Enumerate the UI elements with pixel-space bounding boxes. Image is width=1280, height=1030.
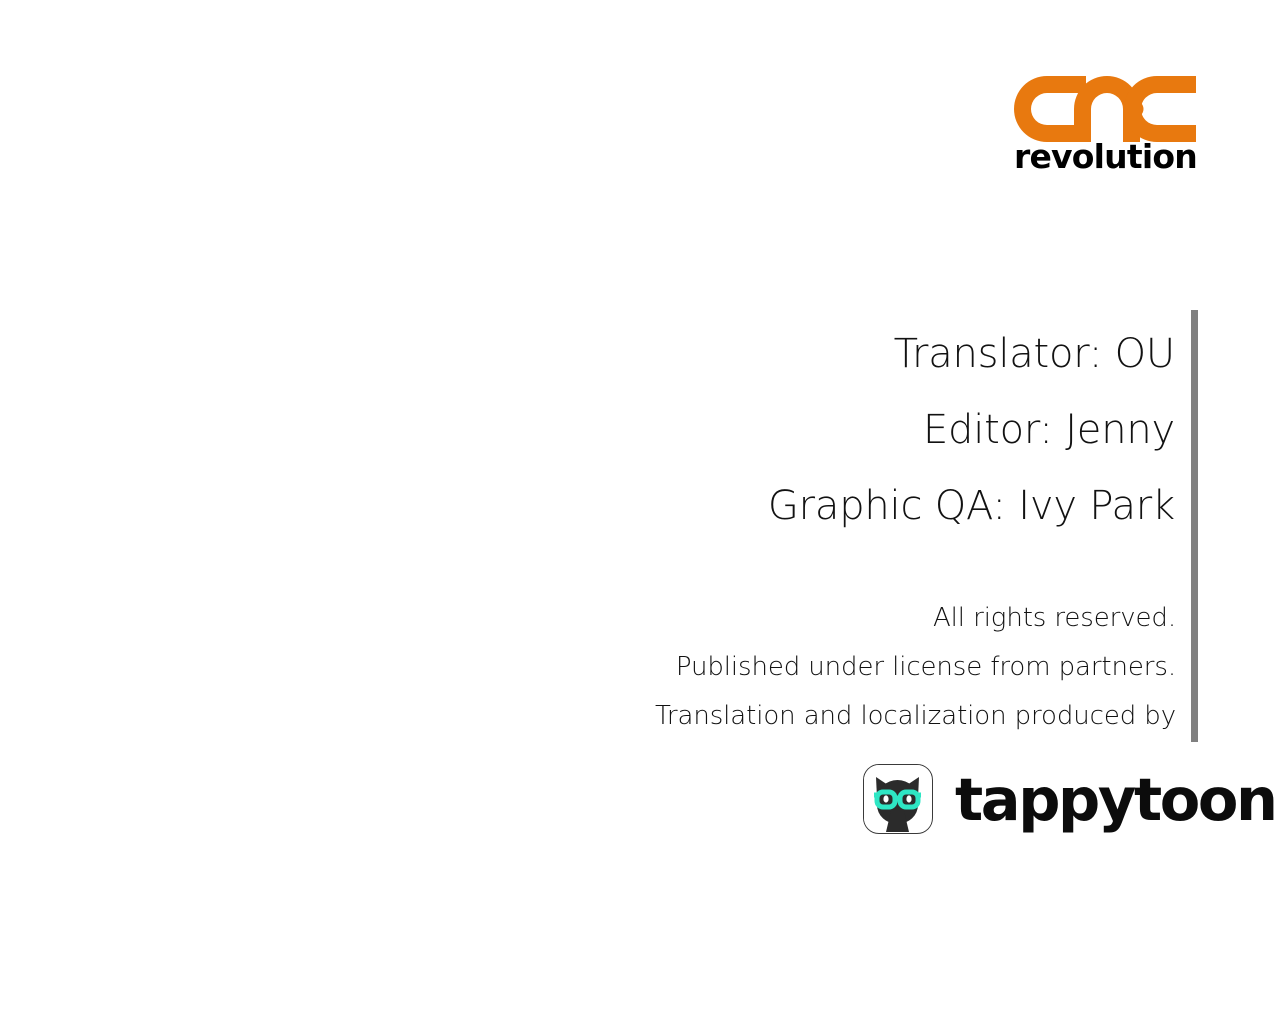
legal-line-localization: Translation and localization produced by	[420, 692, 1176, 741]
tappytoon-logo: tappytoon	[863, 760, 1276, 838]
cnc-wordmark: revolution	[1014, 140, 1196, 173]
credits-block: Translator: OU Editor: Jenny Graphic QA:…	[420, 316, 1175, 544]
legal-line-license: Published under license from partners.	[420, 643, 1176, 692]
credit-line-translator: Translator: OU	[420, 316, 1175, 392]
legal-block: All rights reserved. Published under lic…	[420, 594, 1176, 741]
cnc-mark-icon	[1014, 76, 1196, 142]
cnc-revolution-logo: revolution	[1014, 76, 1196, 176]
tappytoon-wordmark: tappytoon	[955, 770, 1276, 829]
vertical-rule	[1191, 310, 1198, 742]
credit-line-editor: Editor: Jenny	[420, 392, 1175, 468]
cat-with-glasses-icon	[863, 764, 933, 834]
credit-line-graphic-qa: Graphic QA: Ivy Park	[420, 468, 1175, 544]
credits-page: revolution Translator: OU Editor: Jenny …	[0, 0, 1280, 1030]
legal-line-rights: All rights reserved.	[420, 594, 1176, 643]
